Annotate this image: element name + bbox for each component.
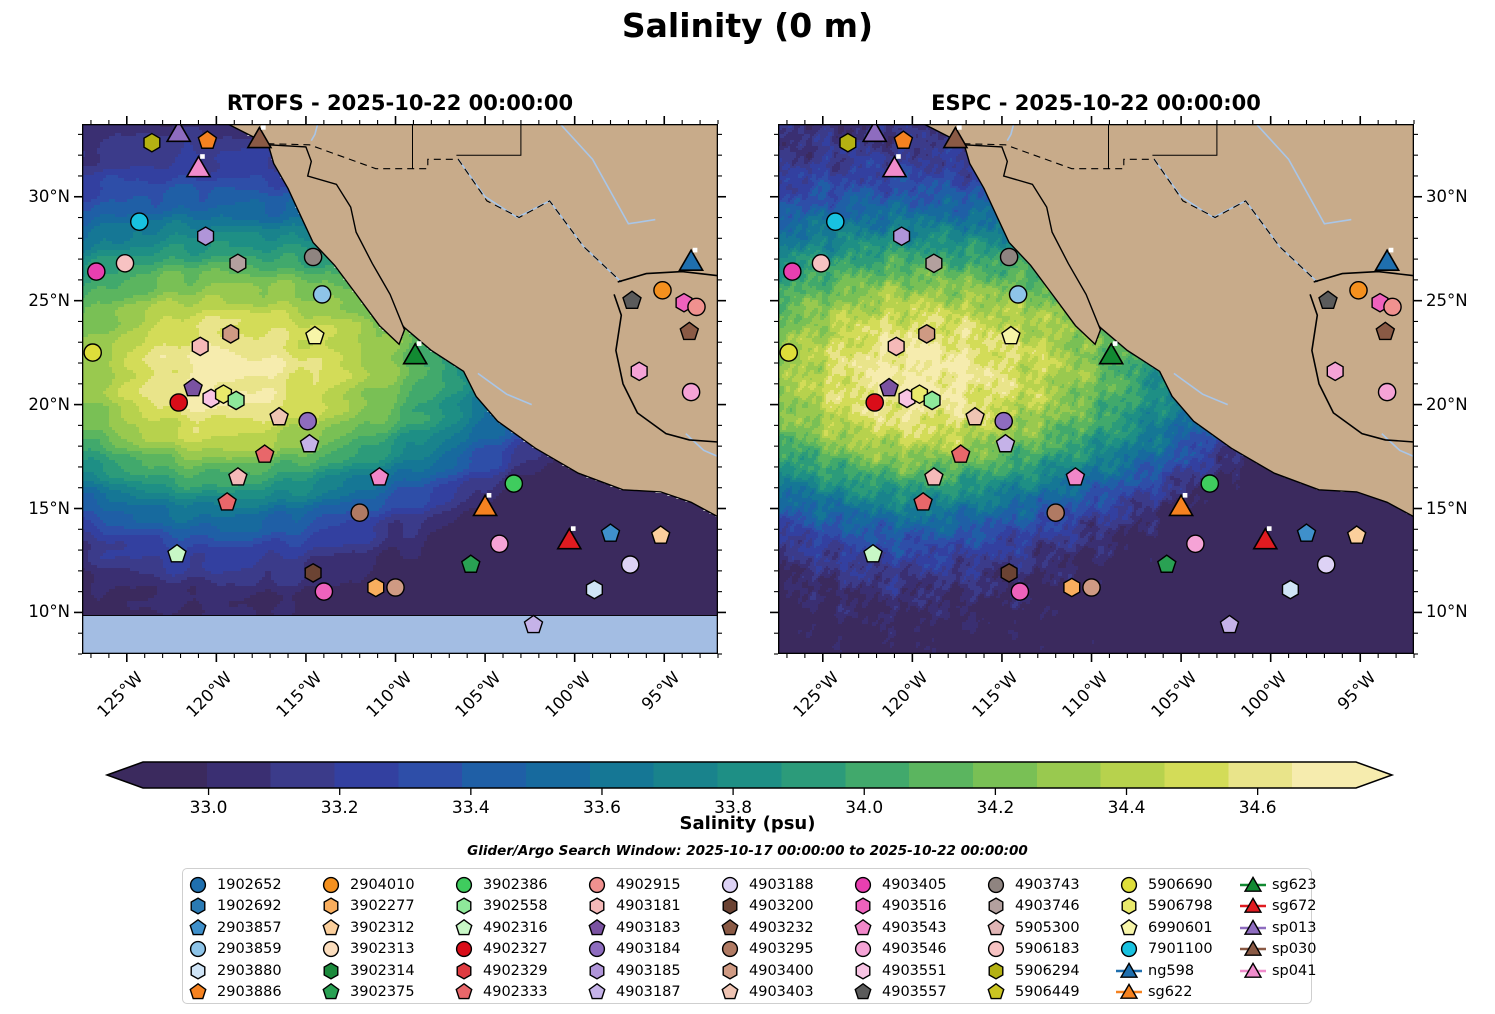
colorbar-tick-label: 33.4 xyxy=(411,798,531,818)
map-marker-5906183[interactable] xyxy=(812,255,829,272)
legend-label: 4903187 xyxy=(612,984,681,1000)
legend-label: 2903880 xyxy=(213,963,282,979)
legend-label: 4903200 xyxy=(745,898,814,914)
legend-item-sg672[interactable]: sg672 xyxy=(1238,896,1316,918)
map-marker-4903188[interactable] xyxy=(622,556,639,573)
map-marker-4903184[interactable] xyxy=(299,413,316,430)
legend-item-6990601[interactable]: 6990601 xyxy=(1114,917,1213,939)
legend-symbol-circle-icon xyxy=(1114,939,1144,959)
legend-item-4902329[interactable]: 4902329 xyxy=(449,960,548,982)
legend-label: 4902329 xyxy=(479,963,548,979)
legend-item-4902316[interactable]: 4902316 xyxy=(449,917,548,939)
legend-symbol-circle-icon xyxy=(316,939,346,959)
legend-label: 5906449 xyxy=(1011,984,1080,1000)
legend-item-5905300[interactable]: 5905300 xyxy=(981,917,1080,939)
legend-item-sp013[interactable]: sp013 xyxy=(1238,917,1316,939)
map-marker-4903405c[interactable] xyxy=(1379,384,1396,401)
legend-label: 4902327 xyxy=(479,941,548,957)
legend-symbol-circle-icon xyxy=(582,875,612,895)
legend-symbol-hexagon-icon xyxy=(183,896,213,916)
map-marker-4902327[interactable] xyxy=(866,394,883,411)
legend-item-4903183[interactable]: 4903183 xyxy=(582,917,681,939)
lat-tick-label: 25°N xyxy=(1426,291,1495,310)
legend-symbol-circle-icon xyxy=(848,939,878,959)
colorbar-tick-label: 34.2 xyxy=(935,798,1055,818)
map-marker-4903743[interactable] xyxy=(305,248,322,265)
legend-item-1902652[interactable]: 1902652 xyxy=(183,874,282,896)
legend-symbol-pentagon-icon xyxy=(582,918,612,938)
map-marker-4903546b[interactable] xyxy=(1327,362,1343,380)
legend-item-sg623[interactable]: sg623 xyxy=(1238,874,1316,896)
legend-symbol-hexagon-icon xyxy=(582,896,612,916)
legend-label: 3902277 xyxy=(346,898,415,914)
legend-item-5906294[interactable]: 5906294 xyxy=(981,960,1080,982)
legend-label: 3902558 xyxy=(479,898,548,914)
map-marker-4903184[interactable] xyxy=(995,413,1012,430)
legend-item-4903546[interactable]: 4903546 xyxy=(848,939,947,961)
map-marker-4903746[interactable] xyxy=(926,254,942,272)
lat-tick-label: 10°N xyxy=(1426,602,1495,621)
legend-item-2903886[interactable]: 2903886 xyxy=(183,982,282,1004)
legend-item-3902314[interactable]: 3902314 xyxy=(316,960,415,982)
legend-item-4903295[interactable]: 4903295 xyxy=(715,939,814,961)
legend-label: sp013 xyxy=(1268,920,1316,936)
legend-label: 4903557 xyxy=(878,984,947,1000)
legend-label: 4902915 xyxy=(612,877,681,893)
legend-symbol-circle-icon xyxy=(449,875,479,895)
legend-symbol-hexagon-icon xyxy=(316,961,346,981)
legend-item-4903746[interactable]: 4903746 xyxy=(981,896,1080,918)
map-panels: RTOFS - 2025-10-22 00:00:00125°W120°W115… xyxy=(0,0,1495,760)
map-marker-4903185[interactable] xyxy=(894,227,910,245)
legend-label: 3902314 xyxy=(346,963,415,979)
legend-label: 6990601 xyxy=(1144,920,1213,936)
legend-symbol-circle-icon xyxy=(715,875,745,895)
legend-item-5906449[interactable]: 5906449 xyxy=(981,982,1080,1004)
legend-column: 4903405490351649035434903546490355149035… xyxy=(848,874,947,1003)
lat-tick-label: 15°N xyxy=(0,499,70,518)
map-marker-4903546b[interactable] xyxy=(631,362,647,380)
legend-column: 1902652190269229038572903859290388029038… xyxy=(183,874,282,1003)
legend-symbol-pentagon-icon xyxy=(183,982,213,1002)
legend-symbol-circle-icon xyxy=(981,939,1011,959)
legend-label: 5905300 xyxy=(1011,920,1080,936)
legend-symbol-hexagon-icon xyxy=(582,961,612,981)
legend-label: 4903543 xyxy=(878,920,947,936)
lat-tick-label: 10°N xyxy=(0,602,70,621)
legend-item-4903551[interactable]: 4903551 xyxy=(848,960,947,982)
legend-symbol-pentagon-icon xyxy=(981,918,1011,938)
legend-item-4903187[interactable]: 4903187 xyxy=(582,982,681,1004)
map-marker-5906294[interactable] xyxy=(840,134,856,152)
legend-symbol-pentagon-icon xyxy=(715,918,745,938)
map-marker-7901100[interactable] xyxy=(827,213,844,230)
map-marker-4903400[interactable] xyxy=(919,325,935,343)
map-marker-4903546[interactable] xyxy=(1187,535,1204,552)
map-marker-5906183[interactable] xyxy=(116,255,133,272)
legend-item-4903184[interactable]: 4903184 xyxy=(582,939,681,961)
map-marker-4903181[interactable] xyxy=(192,337,208,355)
legend-label: 1902652 xyxy=(213,877,282,893)
legend-item-4903557[interactable]: 4903557 xyxy=(848,982,947,1004)
map-marker-4902915[interactable] xyxy=(688,298,705,315)
legend-item-4903200[interactable]: 4903200 xyxy=(715,896,814,918)
legend-symbol-circle-icon xyxy=(1114,875,1144,895)
legend-item-sp030[interactable]: sp030 xyxy=(1238,939,1316,961)
legend-symbol-triangle-line-icon xyxy=(1238,918,1268,938)
map-marker-4903295[interactable] xyxy=(1047,504,1064,521)
colorbar-tick-label: 34.6 xyxy=(1198,798,1318,818)
legend-symbol-circle-icon xyxy=(715,939,745,959)
lat-tick-label: 25°N xyxy=(0,291,70,310)
legend-label: 4903403 xyxy=(745,984,814,1000)
map-marker-3902386[interactable] xyxy=(505,475,522,492)
legend-symbol-circle-icon xyxy=(449,939,479,959)
map-espc[interactable] xyxy=(778,124,1414,654)
legend-label: 2903859 xyxy=(213,941,282,957)
legend-symbol-pentagon-icon xyxy=(449,918,479,938)
legend-label: ng598 xyxy=(1144,963,1194,979)
map-marker-2903859[interactable] xyxy=(1010,286,1027,303)
map-marker-5906690[interactable] xyxy=(780,344,797,361)
legend-label: 2903886 xyxy=(213,984,282,1000)
legend-item-5906798[interactable]: 5906798 xyxy=(1114,896,1213,918)
legend-label: 4903183 xyxy=(612,920,681,936)
lat-tick-label: 20°N xyxy=(0,395,70,414)
legend-label: 4903551 xyxy=(878,963,947,979)
panel-title-rtofs: RTOFS - 2025-10-22 00:00:00 xyxy=(82,91,718,115)
map-marker-4903405[interactable] xyxy=(784,263,801,280)
lat-tick-label: 30°N xyxy=(0,187,70,206)
legend-label: 4903295 xyxy=(745,941,814,957)
legend-label: 4903184 xyxy=(612,941,681,957)
legend-item-3902375[interactable]: 3902375 xyxy=(316,982,415,1004)
map-marker-4903295b[interactable] xyxy=(387,579,404,596)
map-marker-4903400[interactable] xyxy=(223,325,239,343)
legend-column: 4903188490320049032324903295490340049034… xyxy=(715,874,814,1003)
map-marker-4903185[interactable] xyxy=(198,227,214,245)
legend-label: 4903746 xyxy=(1011,898,1080,914)
map-marker-3902558[interactable] xyxy=(228,391,244,409)
legend-item-4903232[interactable]: 4903232 xyxy=(715,917,814,939)
platform-legend[interactable]: 1902652190269229038572903859290388029038… xyxy=(182,868,1312,1004)
legend-item-4903185[interactable]: 4903185 xyxy=(582,960,681,982)
legend-label: 2904010 xyxy=(346,877,415,893)
map-marker-7901100[interactable] xyxy=(131,213,148,230)
legend-item-3902558[interactable]: 3902558 xyxy=(449,896,548,918)
colorbar-tick-label: 34.4 xyxy=(1067,798,1187,818)
legend-item-3902386[interactable]: 3902386 xyxy=(449,874,548,896)
legend-item-sp041[interactable]: sp041 xyxy=(1238,960,1316,982)
legend-item-4902333[interactable]: 4902333 xyxy=(449,982,548,1004)
map-marker-4903200[interactable] xyxy=(1001,564,1017,582)
legend-symbol-pentagon-icon xyxy=(316,918,346,938)
legend-symbol-circle-icon xyxy=(316,875,346,895)
legend-symbol-pentagon-icon xyxy=(848,918,878,938)
legend-label: 5906294 xyxy=(1011,963,1080,979)
legend-symbol-pentagon-icon xyxy=(183,918,213,938)
legend-symbol-circle-icon xyxy=(981,875,1011,895)
legend-column: 5906690590679869906017901100ng598sg622 xyxy=(1114,874,1213,1003)
legend-symbol-hexagon-icon xyxy=(981,961,1011,981)
map-marker-3902277[interactable] xyxy=(1064,578,1080,596)
colorbar-tick-label: 34.0 xyxy=(804,798,924,818)
legend-symbol-hexagon-icon xyxy=(848,896,878,916)
legend-item-5906183[interactable]: 5906183 xyxy=(981,939,1080,961)
map-marker-4903743[interactable] xyxy=(1001,248,1018,265)
legend-symbol-pentagon-icon xyxy=(981,982,1011,1002)
legend-symbol-pentagon-icon xyxy=(316,982,346,1002)
colorbar-tick-label: 33.0 xyxy=(149,798,269,818)
colorbar-tick-label: 33.8 xyxy=(673,798,793,818)
legend-label: sp030 xyxy=(1268,941,1316,957)
lat-tick-label: 20°N xyxy=(1426,395,1495,414)
legend-label: sg622 xyxy=(1144,984,1192,1000)
map-marker-5906690[interactable] xyxy=(84,344,101,361)
map-marker-5906294[interactable] xyxy=(144,134,160,152)
legend-label: 5906183 xyxy=(1011,941,1080,957)
legend-label: 3902375 xyxy=(346,984,415,1000)
legend-label: 4903232 xyxy=(745,920,814,936)
legend-item-4903516[interactable]: 4903516 xyxy=(848,896,947,918)
legend-symbol-hexagon-icon xyxy=(848,961,878,981)
map-marker-2904010[interactable] xyxy=(1350,282,1367,299)
legend-label: 4903188 xyxy=(745,877,814,893)
map-marker-4903405b[interactable] xyxy=(315,583,332,600)
map-marker-3902277[interactable] xyxy=(368,578,384,596)
lat-tick-label: 15°N xyxy=(1426,499,1495,518)
legend-label: 4903546 xyxy=(878,941,947,957)
map-marker-4903405[interactable] xyxy=(88,263,105,280)
legend-column: 4902915490318149031834903184490318549031… xyxy=(582,874,681,1003)
legend-label: 2903857 xyxy=(213,920,282,936)
legend-item-sg622[interactable]: sg622 xyxy=(1114,982,1213,1004)
legend-symbol-hexagon-icon xyxy=(715,896,745,916)
map-rtofs[interactable] xyxy=(82,124,718,654)
map-marker-4903295[interactable] xyxy=(351,504,368,521)
colorbar-tick-label: 33.2 xyxy=(280,798,400,818)
legend-symbol-triangle-line-icon xyxy=(1114,982,1144,1002)
map-marker-4903200[interactable] xyxy=(305,564,321,582)
legend-item-4903543[interactable]: 4903543 xyxy=(848,917,947,939)
panel-title-espc: ESPC - 2025-10-22 00:00:00 xyxy=(778,91,1414,115)
legend-item-2903880[interactable]: 2903880 xyxy=(183,960,282,982)
legend-label: 4903185 xyxy=(612,963,681,979)
legend-item-4903405[interactable]: 4903405 xyxy=(848,874,947,896)
legend-symbol-hexagon-icon xyxy=(1114,896,1144,916)
legend-label: 5906690 xyxy=(1144,877,1213,893)
legend-symbol-triangle-line-icon xyxy=(1114,961,1144,981)
legend-symbol-circle-icon xyxy=(183,875,213,895)
map-marker-4903405b[interactable] xyxy=(1011,583,1028,600)
legend-symbol-pentagon-icon xyxy=(848,982,878,1002)
legend-item-4902327[interactable]: 4902327 xyxy=(449,939,548,961)
legend-item-2904010[interactable]: 2904010 xyxy=(316,874,415,896)
legend-label: 4903181 xyxy=(612,898,681,914)
legend-column: 2904010390227739023123902313390231439023… xyxy=(316,874,415,1003)
map-marker-2904010[interactable] xyxy=(654,282,671,299)
legend-item-4903188[interactable]: 4903188 xyxy=(715,874,814,896)
legend-label: sp041 xyxy=(1268,963,1316,979)
colorbar-tick-label: 33.6 xyxy=(542,798,662,818)
legend-item-4903743[interactable]: 4903743 xyxy=(981,874,1080,896)
legend-item-3902277[interactable]: 3902277 xyxy=(316,896,415,918)
legend-symbol-circle-icon xyxy=(183,939,213,959)
legend-column: 3902386390255849023164902327490232949023… xyxy=(449,874,548,1003)
legend-label: 4902333 xyxy=(479,984,548,1000)
legend-item-4902915[interactable]: 4902915 xyxy=(582,874,681,896)
legend-item-4903181[interactable]: 4903181 xyxy=(582,896,681,918)
map-marker-4903200b[interactable] xyxy=(1283,580,1299,598)
legend-item-1902692[interactable]: 1902692 xyxy=(183,896,282,918)
legend-symbol-pentagon-icon xyxy=(449,982,479,1002)
map-marker-4903746[interactable] xyxy=(230,254,246,272)
legend-symbol-pentagon-icon xyxy=(715,982,745,1002)
map-marker-4902327[interactable] xyxy=(170,394,187,411)
lat-tick-label: 30°N xyxy=(1426,187,1495,206)
legend-symbol-circle-icon xyxy=(582,939,612,959)
map-marker-4903188[interactable] xyxy=(1318,556,1335,573)
legend-symbol-circle-icon xyxy=(848,875,878,895)
search-window-text: Glider/Argo Search Window: 2025-10-17 00… xyxy=(0,843,1495,859)
map-marker-4903546[interactable] xyxy=(491,535,508,552)
map-marker-3902558[interactable] xyxy=(924,391,940,409)
legend-label: 3902386 xyxy=(479,877,548,893)
legend-symbol-hexagon-icon xyxy=(981,896,1011,916)
legend-symbol-hexagon-icon xyxy=(316,896,346,916)
legend-label: 3902313 xyxy=(346,941,415,957)
legend-symbol-hexagon-icon xyxy=(449,961,479,981)
legend-column: 4903743490374659053005906183590629459064… xyxy=(981,874,1080,1003)
map-marker-4903200b[interactable] xyxy=(587,580,603,598)
map-marker-4903405c[interactable] xyxy=(683,384,700,401)
legend-symbol-hexagon-icon xyxy=(449,896,479,916)
legend-symbol-triangle-line-icon xyxy=(1238,961,1268,981)
legend-item-ng598[interactable]: ng598 xyxy=(1114,960,1213,982)
map-marker-4902915[interactable] xyxy=(1384,298,1401,315)
legend-symbol-hexagon-icon xyxy=(715,961,745,981)
legend-item-3902312[interactable]: 3902312 xyxy=(316,917,415,939)
legend-item-3902313[interactable]: 3902313 xyxy=(316,939,415,961)
legend-item-2903859[interactable]: 2903859 xyxy=(183,939,282,961)
legend-item-4903400[interactable]: 4903400 xyxy=(715,960,814,982)
legend-symbol-triangle-line-icon xyxy=(1238,875,1268,895)
legend-label: 1902692 xyxy=(213,898,282,914)
legend-label: sg623 xyxy=(1268,877,1316,893)
legend-label: 7901100 xyxy=(1144,941,1213,957)
legend-item-5906690[interactable]: 5906690 xyxy=(1114,874,1213,896)
legend-symbol-pentagon-icon xyxy=(582,982,612,1002)
legend-label: 4903400 xyxy=(745,963,814,979)
legend-label: sg672 xyxy=(1268,898,1316,914)
map-marker-3902386[interactable] xyxy=(1201,475,1218,492)
legend-symbol-hexagon-icon xyxy=(183,961,213,981)
map-marker-4903181[interactable] xyxy=(888,337,904,355)
legend-symbol-triangle-line-icon xyxy=(1238,939,1268,959)
legend-column: sg623sg672sp013sp030sp041 xyxy=(1238,874,1316,982)
map-marker-4903295b[interactable] xyxy=(1083,579,1100,596)
legend-item-7901100[interactable]: 7901100 xyxy=(1114,939,1213,961)
legend-label: 5906798 xyxy=(1144,898,1213,914)
legend-symbol-triangle-line-icon xyxy=(1238,896,1268,916)
legend-label: 4902316 xyxy=(479,920,548,936)
legend-label: 4903743 xyxy=(1011,877,1080,893)
legend-item-2903857[interactable]: 2903857 xyxy=(183,917,282,939)
legend-item-4903403[interactable]: 4903403 xyxy=(715,982,814,1004)
legend-label: 4903516 xyxy=(878,898,947,914)
legend-symbol-pentagon-icon xyxy=(1114,918,1144,938)
legend-label: 3902312 xyxy=(346,920,415,936)
legend-label: 4903405 xyxy=(878,877,947,893)
map-marker-2903859[interactable] xyxy=(314,286,331,303)
